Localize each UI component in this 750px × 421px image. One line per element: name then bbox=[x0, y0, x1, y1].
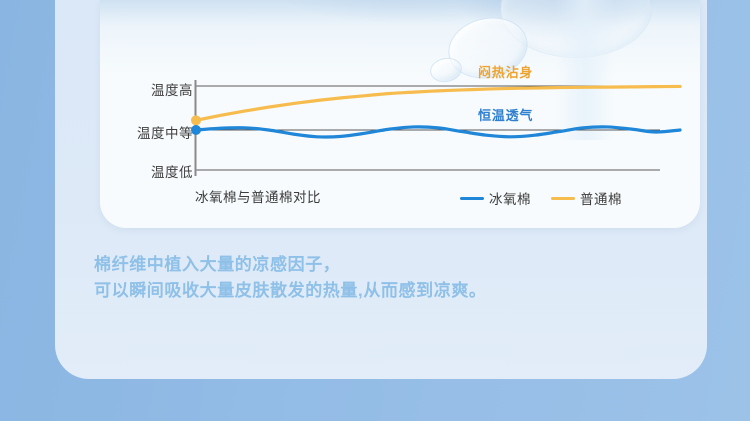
series-line-ice-oxygen-cotton bbox=[196, 127, 680, 137]
chart-x-axis-caption: 冰氧棉与普通棉对比 bbox=[195, 186, 321, 206]
line-chart: 温度高 温度中等 温度低 闷热沾身 恒温透气 冰氧棉与普通棉对比 冰氧棉 bbox=[100, 0, 700, 228]
series-line-normal-cotton bbox=[196, 86, 680, 120]
legend-label-normal-cotton: 普通棉 bbox=[580, 188, 622, 208]
legend-label-ice-oxygen-cotton: 冰氧棉 bbox=[489, 188, 531, 208]
chart-legend: 冰氧棉 普通棉 bbox=[460, 188, 622, 208]
legend-swatch-orange bbox=[551, 197, 575, 200]
body-copy-line-1: 棉纤维中植入大量的凉感因子， bbox=[94, 252, 654, 278]
series-start-marker-ice-oxygen-cotton bbox=[191, 125, 201, 135]
callout-normal-cotton: 闷热沾身 bbox=[478, 62, 533, 81]
body-copy-line-2: 可以瞬间吸收大量皮肤散发的热量,从而感到凉爽。 bbox=[94, 278, 654, 304]
series-start-marker-normal-cotton bbox=[191, 115, 201, 125]
callout-ice-oxygen-cotton: 恒温透气 bbox=[478, 105, 533, 124]
comparison-chart-card: 温度高 温度中等 温度低 闷热沾身 恒温透气 冰氧棉与普通棉对比 冰氧棉 bbox=[100, 0, 700, 228]
legend-item-ice-oxygen-cotton: 冰氧棉 bbox=[460, 188, 531, 208]
legend-swatch-blue bbox=[460, 197, 484, 200]
body-copy: 棉纤维中植入大量的凉感因子， 可以瞬间吸收大量皮肤散发的热量,从而感到凉爽。 bbox=[94, 252, 654, 304]
legend-item-normal-cotton: 普通棉 bbox=[551, 188, 622, 208]
